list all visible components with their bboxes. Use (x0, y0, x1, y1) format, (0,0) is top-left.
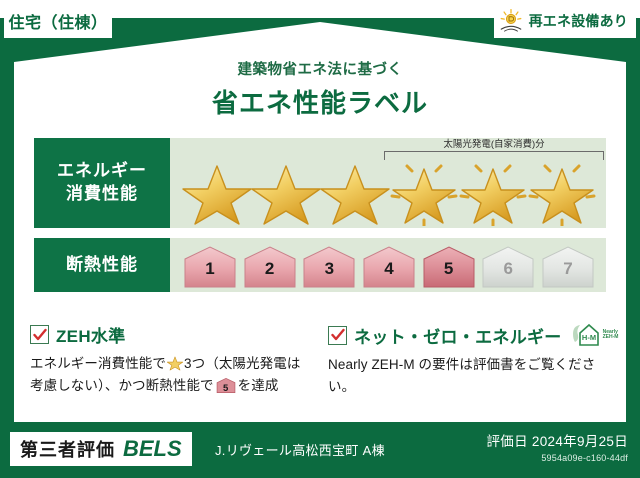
solar-annotation-bracket (384, 151, 604, 160)
building-type-tag: 住宅（住棟） (4, 4, 112, 38)
energy-performance-row: エネルギー 消費性能 太陽光発電(自家消費)分 (34, 138, 606, 228)
star-icon (251, 160, 321, 226)
star-icon-cell (320, 160, 389, 226)
insulation-level-number: 1 (182, 259, 238, 279)
zeh-body-star-count: 3つ (184, 356, 205, 371)
check-icon (30, 325, 49, 344)
building-name: J.リヴェール高松西宝町 A棟 (215, 440, 385, 459)
building-type-label: 住宅（住棟） (8, 9, 107, 33)
star-solar-icon (527, 160, 597, 226)
insulation-level-number: 4 (361, 259, 417, 279)
evaluation-date: 評価日 2024年9月25日 (486, 430, 628, 450)
star-icon-cell (182, 160, 251, 226)
footer: 第三者評価 BELS J.リヴェール高松西宝町 A棟 評価日 2024年9月25… (0, 422, 640, 478)
star-solar-icon-cell (527, 160, 596, 226)
zeh-m-logo-caption: Nearly ZEH-M (603, 330, 619, 341)
zeh-m-logo: H-M Nearly ZEH-M (571, 322, 619, 348)
zeh-standard-title: ZEH水準 (56, 322, 126, 347)
house-badge-icon: 5 (216, 377, 236, 394)
net-zero-heading: ネット・ゼロ・エネルギー H-M Nearly ZEH-M (328, 322, 616, 348)
insulation-performance-row: 断熱性能 1 (34, 238, 606, 292)
bels-jp-label: 第三者評価 (20, 436, 115, 462)
insulation-row-label: 断熱性能 (34, 238, 170, 292)
house-badge-icon-cell-achieved: 5 (421, 245, 477, 289)
zeh-m-house-icon: H-M (571, 322, 601, 348)
check-icon (328, 326, 347, 345)
evaluation-id: 5954a09e-c160-44df (486, 453, 628, 463)
net-zero-energy-note: ネット・ゼロ・エネルギー H-M Nearly ZEH-M Nearly ZEH… (328, 322, 616, 399)
zeh-m-caption-line2: ZEH-M (603, 334, 619, 340)
title-block: 建築物省エネ法に基づく 省エネ性能ラベル (0, 58, 640, 120)
star-solar-icon-cell (389, 160, 458, 226)
insulation-level-number: 3 (301, 259, 357, 279)
house-badge-icon-cell-inactive: 7 (540, 245, 596, 289)
zeh-body-part1: エネルギー消費性能で (30, 356, 166, 371)
renewable-equipment-tag: 再エネ設備あり (494, 4, 636, 38)
insulation-level-number: 5 (421, 259, 477, 279)
zeh-m-logo-text: H-M (582, 333, 596, 342)
zeh-standard-body: エネルギー消費性能で3つ（太陽光発電は考慮しない）、かつ断熱性能で5を達成 (30, 353, 310, 398)
star-icon (320, 160, 390, 226)
solar-annotation-text: 太陽光発電(自家消費)分 (384, 140, 604, 150)
star-icon (167, 355, 183, 371)
page-title: 省エネ性能ラベル (0, 83, 640, 120)
zeh-body-part2: （太陽光発電 (205, 356, 287, 371)
solar-annotation: 太陽光発電(自家消費)分 (384, 140, 604, 160)
star-solar-icon-cell (458, 160, 527, 226)
insulation-label-text: 断熱性能 (66, 254, 138, 277)
star-rating (178, 160, 600, 226)
insulation-row-body: 1 2 3 (170, 238, 606, 292)
star-icon-cell (251, 160, 320, 226)
house-badge-icon-cell: 2 (242, 245, 298, 289)
star-solar-icon (458, 160, 528, 226)
title-subtitle: 建築物省エネ法に基づく (0, 58, 640, 79)
notes-section: ZEH水準 エネルギー消費性能で3つ（太陽光発電は考慮しない）、かつ断熱性能で5… (30, 322, 616, 399)
star-icon (182, 160, 252, 226)
performance-rows: エネルギー 消費性能 太陽光発電(自家消費)分 (34, 138, 606, 292)
energy-label-line1: エネルギー (57, 160, 147, 183)
net-zero-body: Nearly ZEH-M の要件は評価書をご覧ください。 (328, 354, 616, 399)
row-divider (34, 228, 606, 238)
energy-row-label: エネルギー 消費性能 (34, 138, 170, 228)
house-badge-icon-cell: 4 (361, 245, 417, 289)
bels-badge: 第三者評価 BELS (10, 432, 192, 466)
energy-row-body: 太陽光発電(自家消費)分 (170, 138, 606, 228)
net-zero-title: ネット・ゼロ・エネルギー (354, 323, 562, 348)
house-badge-icon-cell: 1 (182, 245, 238, 289)
house-badge-icon-cell: 3 (301, 245, 357, 289)
star-solar-icon (389, 160, 459, 226)
energy-label-line2: 消費性能 (66, 183, 138, 206)
evaluation-info: 評価日 2024年9月25日 5954a09e-c160-44df (486, 430, 628, 463)
insulation-level-scale: 1 2 3 (178, 245, 600, 289)
zeh-body-level: 5 (216, 381, 236, 397)
house-badge-icon-cell-inactive: 6 (480, 245, 536, 289)
insulation-level-number: 7 (540, 259, 596, 279)
zeh-standard-note: ZEH水準 エネルギー消費性能で3つ（太陽光発電は考慮しない）、かつ断熱性能で5… (30, 322, 310, 399)
bels-en-label: BELS (123, 436, 182, 462)
zeh-standard-heading: ZEH水準 (30, 322, 310, 347)
energy-performance-label: 住宅（住棟） 再エネ設備あり 建築物省エネ法に基づく 省エネ性能ラベル (0, 0, 640, 478)
sun-solar-icon (498, 8, 524, 34)
insulation-level-number: 6 (480, 259, 536, 279)
zeh-body-part4: を達成 (238, 378, 279, 393)
renewable-label: 再エネ設備あり (529, 11, 628, 31)
insulation-level-number: 2 (242, 259, 298, 279)
